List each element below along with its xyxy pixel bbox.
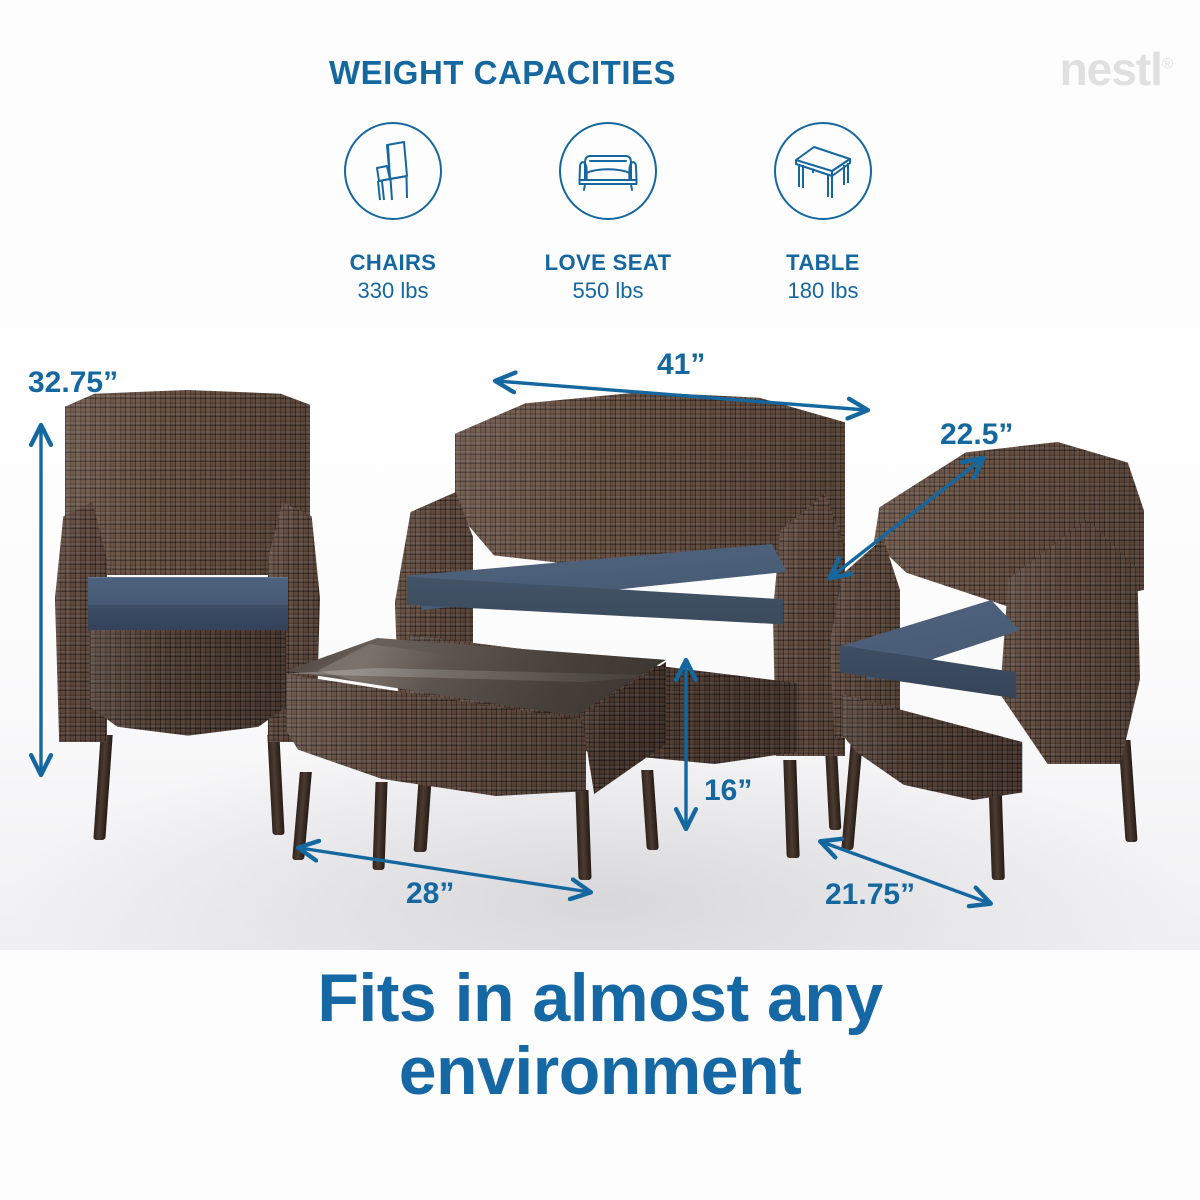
left-chair-cushion <box>88 577 288 607</box>
right-chair-leg-front-left <box>841 742 862 850</box>
loveseat-icon <box>577 149 639 193</box>
loveseat-leg-mid <box>783 760 799 858</box>
table-leg-back-right <box>641 770 659 850</box>
table-icon <box>792 143 854 199</box>
capacity-label-loveseat: LOVE SEAT <box>533 249 683 277</box>
capacity-item-loveseat: LOVE SEAT 550 lbs <box>533 122 683 304</box>
left-chair-leg-front <box>93 735 112 840</box>
tagline-line-1: Fits in almost any <box>0 962 1200 1035</box>
coffee-table <box>282 630 682 860</box>
capacity-label-table: TABLE <box>748 249 898 277</box>
weight-capacities-group: CHAIRS 330 lbs LOVE SEAT 550 lbs <box>318 122 898 304</box>
chair-icon-ring <box>344 122 442 220</box>
furniture-set-photo <box>0 330 1200 950</box>
dimension-label-chair-width: 21.75” <box>825 878 915 912</box>
left-chair <box>55 390 320 840</box>
dimension-label-chair-height: 32.75” <box>28 366 118 400</box>
tagline-line-2: environment <box>0 1035 1200 1108</box>
dimension-label-chair-depth: 22.5” <box>940 418 1013 452</box>
left-chair-front-panel <box>90 630 286 740</box>
capacity-item-table: TABLE 180 lbs <box>748 122 898 304</box>
tagline: Fits in almost any environment <box>0 962 1200 1109</box>
weight-capacities-title: WEIGHT CAPACITIES <box>0 54 1200 92</box>
table-leg-front-left <box>292 772 312 860</box>
capacity-weight-table: 180 lbs <box>748 277 898 305</box>
capacity-label-chairs: CHAIRS <box>318 249 468 277</box>
dimension-label-table-height: 16” <box>704 774 752 808</box>
table-leg-front-right <box>575 790 591 880</box>
capacity-item-chairs: CHAIRS 330 lbs <box>318 122 468 304</box>
dimension-label-table-width: 28” <box>406 877 454 911</box>
dimension-label-loveseat-width: 41” <box>657 348 705 382</box>
table-icon-ring <box>774 122 872 220</box>
table-leg-mid <box>372 782 387 870</box>
capacity-weight-loveseat: 550 lbs <box>533 277 683 305</box>
capacity-weight-chairs: 330 lbs <box>318 277 468 305</box>
left-chair-cushion-front <box>88 605 288 631</box>
right-chair <box>822 442 1162 852</box>
chair-icon <box>366 140 420 202</box>
loveseat-icon-ring <box>559 122 657 220</box>
